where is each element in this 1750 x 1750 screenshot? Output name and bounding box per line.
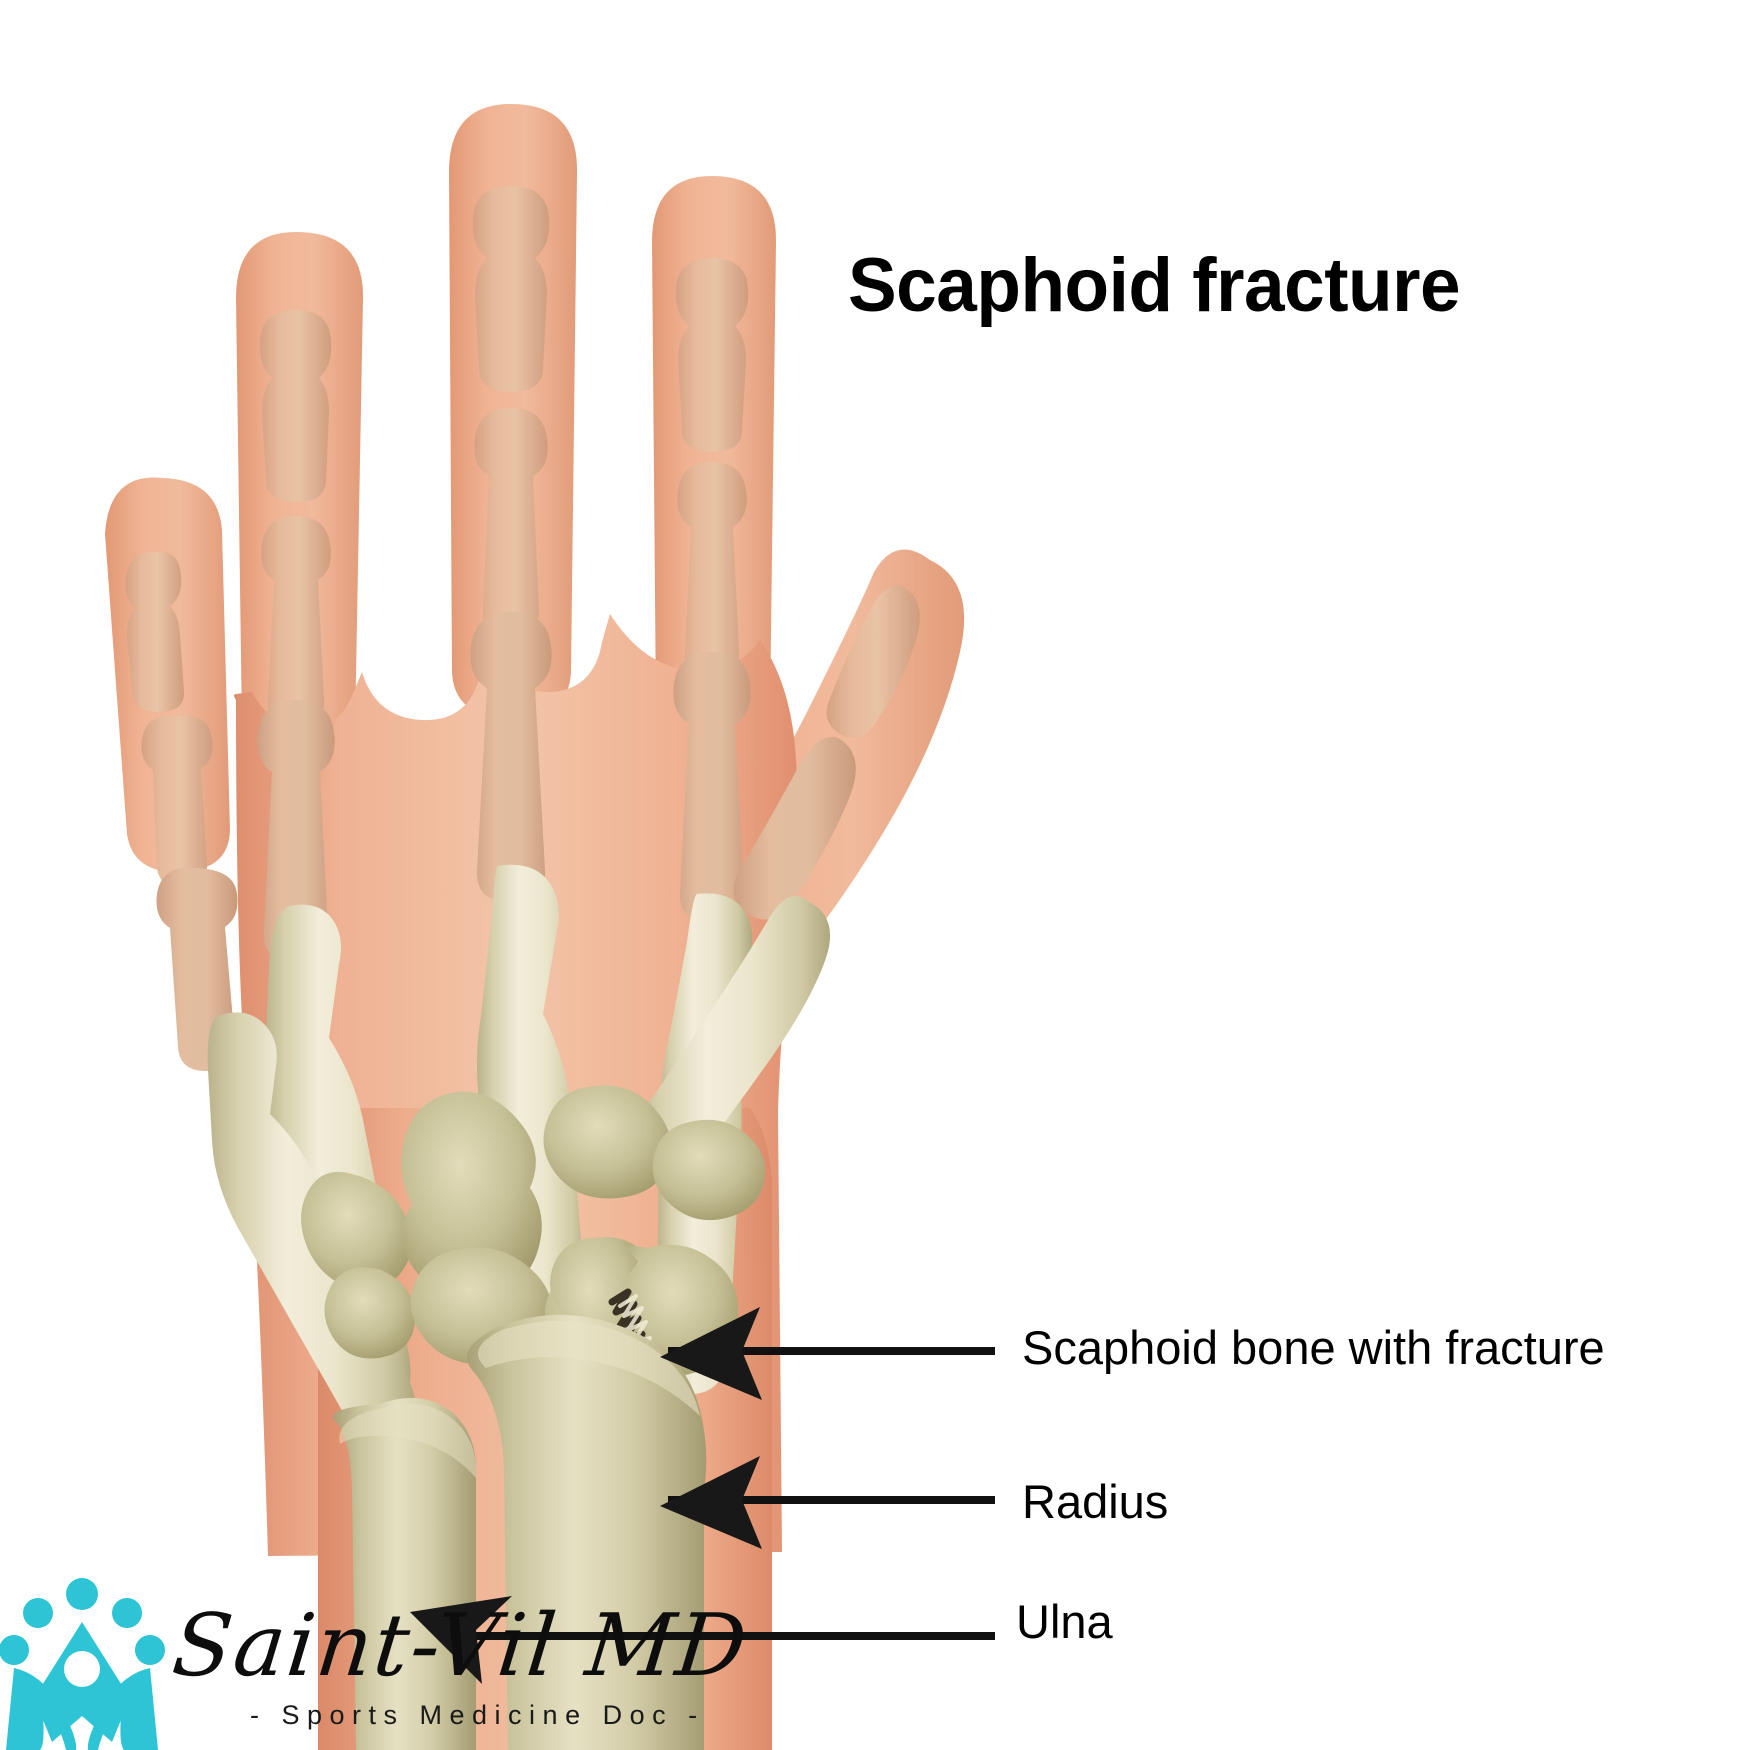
bone-little-distal-phalanx — [125, 552, 184, 712]
bone-index-distal-phalanx — [260, 310, 332, 502]
annotation-label-radius: Radius — [1022, 1478, 1168, 1525]
logo-brand-script: Saint-Vil MD — [168, 1596, 753, 1696]
logo-dot-upper-left — [23, 1598, 53, 1628]
logo-dot-left — [0, 1635, 29, 1665]
logo-tagline: - Sports Medicine Doc - — [250, 1700, 705, 1731]
annotation-label-ulna: Ulna — [1016, 1598, 1113, 1645]
illustration-canvas: Scaphoid fracture Scaphoid bone with fra… — [0, 0, 1750, 1750]
annotation-label-scaphoid: Scaphoid bone with fracture — [1022, 1324, 1605, 1371]
logo-dot-top — [66, 1578, 98, 1610]
logo-head-circle — [64, 1651, 100, 1687]
bone-ring-distal-phalanx — [676, 258, 748, 452]
bone-middle-distal-phalanx — [473, 186, 549, 392]
logo-dot-right — [135, 1635, 165, 1665]
page-title: Scaphoid fracture — [848, 248, 1460, 324]
logo-dot-upper-right — [112, 1598, 142, 1628]
logo-mark — [0, 1578, 165, 1750]
